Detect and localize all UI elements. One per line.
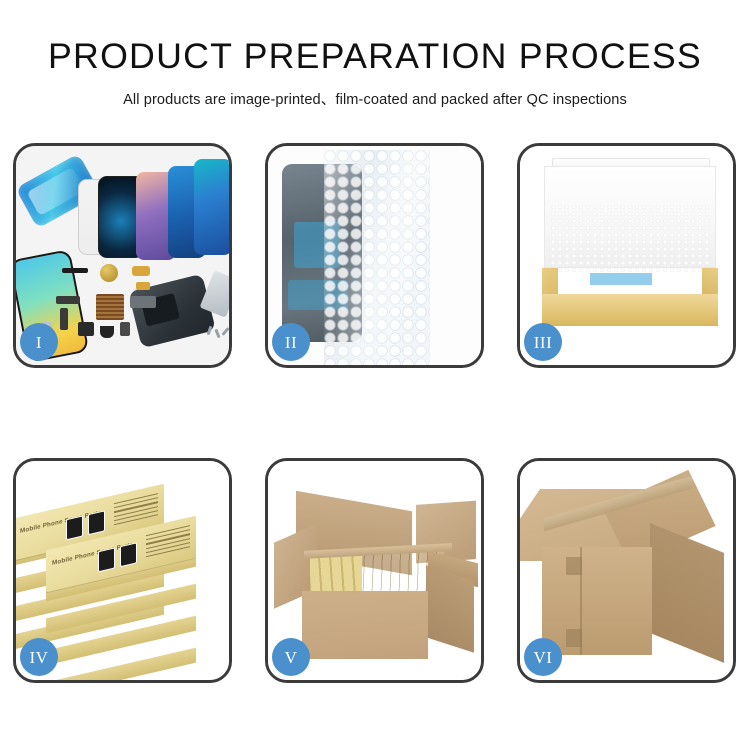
step-badge-1: I <box>20 323 58 361</box>
process-step-1: I <box>13 143 232 368</box>
process-step-2: II <box>265 143 484 368</box>
process-step-3: III <box>517 143 736 368</box>
vibrator-part <box>78 322 94 336</box>
page-subtitle: All products are image-printed、film-coat… <box>0 88 750 109</box>
foam-padding <box>550 204 710 274</box>
process-step-5: V <box>265 458 484 683</box>
box-screen-graphic <box>66 515 83 540</box>
chip-array-part <box>96 294 124 320</box>
film-sheen <box>324 150 430 365</box>
box-screen-graphic <box>98 547 115 572</box>
box-front-wall <box>542 294 718 326</box>
carton-hand-hole-bottom <box>566 629 582 647</box>
carton-front-wall <box>302 591 428 659</box>
speaker-coil-part <box>100 264 118 282</box>
step-badge-3: III <box>524 323 562 361</box>
flex-cable-part-a <box>132 266 150 276</box>
carton-side-wall <box>426 565 474 653</box>
speaker-part <box>100 326 114 338</box>
camera-module-part <box>130 296 156 308</box>
header: PRODUCT PREPARATION PROCESS All products… <box>0 0 750 109</box>
page-title: PRODUCT PREPARATION PROCESS <box>0 39 750 74</box>
flex-cable-part-b <box>136 282 150 290</box>
product-preparation-infographic: PRODUCT PREPARATION PROCESS All products… <box>0 0 750 750</box>
step-badge-5: V <box>272 638 310 676</box>
carton-hand-hole-top <box>566 557 582 575</box>
box-screen-graphic <box>88 510 105 535</box>
step-badge-6: VI <box>524 638 562 676</box>
process-step-4: Mobile Phone Spare Parts Mobile Phone Sp… <box>13 458 232 683</box>
phone-screen-teal <box>194 159 229 255</box>
flex-cable-part-c <box>56 296 80 304</box>
flex-cable-part-d <box>60 308 68 330</box>
box-spec-lines <box>114 493 158 529</box>
carton-right-wall <box>650 523 724 663</box>
process-step-grid: I II III <box>13 143 737 683</box>
step-badge-4: IV <box>20 638 58 676</box>
process-step-6: VI <box>517 458 736 683</box>
screws-group <box>208 326 229 340</box>
box-spec-lines <box>146 525 190 561</box>
earpiece-mesh-part <box>62 268 88 273</box>
carton-front-wall <box>542 547 652 655</box>
box-screen-graphic <box>120 542 137 567</box>
step-badge-2: II <box>272 323 310 361</box>
connector-part <box>120 322 130 336</box>
